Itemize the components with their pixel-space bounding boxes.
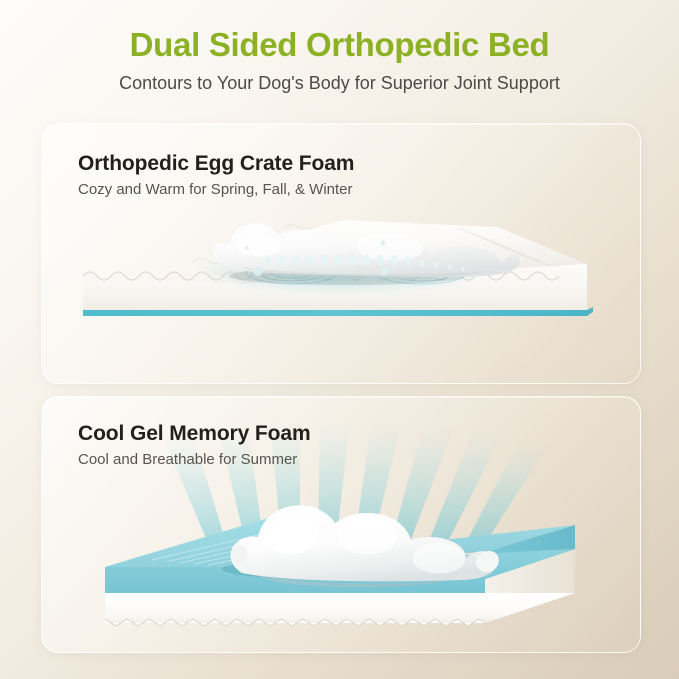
dog-silhouette xyxy=(212,223,520,279)
teal-base-strip xyxy=(83,310,587,316)
dog-silhouette xyxy=(230,505,498,587)
feature-card-cool-gel-memory-foam: Cool Gel Memory Foam Cool and Breathable… xyxy=(41,396,641,653)
card-heading-egg-crate: Orthopedic Egg Crate Foam xyxy=(78,151,354,176)
page-title: Dual Sided Orthopedic Bed xyxy=(0,26,679,64)
page-subtitle: Contours to Your Dog's Body for Superior… xyxy=(0,73,679,95)
card-heading-gel-foam: Cool Gel Memory Foam xyxy=(78,421,311,446)
header: Dual Sided Orthopedic Bed Contours to Yo… xyxy=(0,0,679,95)
infographic-page: Dual Sided Orthopedic Bed Contours to Yo… xyxy=(0,0,679,679)
feature-card-egg-crate-foam: Orthopedic Egg Crate Foam Cozy and Warm … xyxy=(41,123,641,384)
card-subheading-egg-crate: Cozy and Warm for Spring, Fall, & Winter xyxy=(78,181,353,199)
card-subheading-gel-foam: Cool and Breathable for Summer xyxy=(78,451,297,469)
